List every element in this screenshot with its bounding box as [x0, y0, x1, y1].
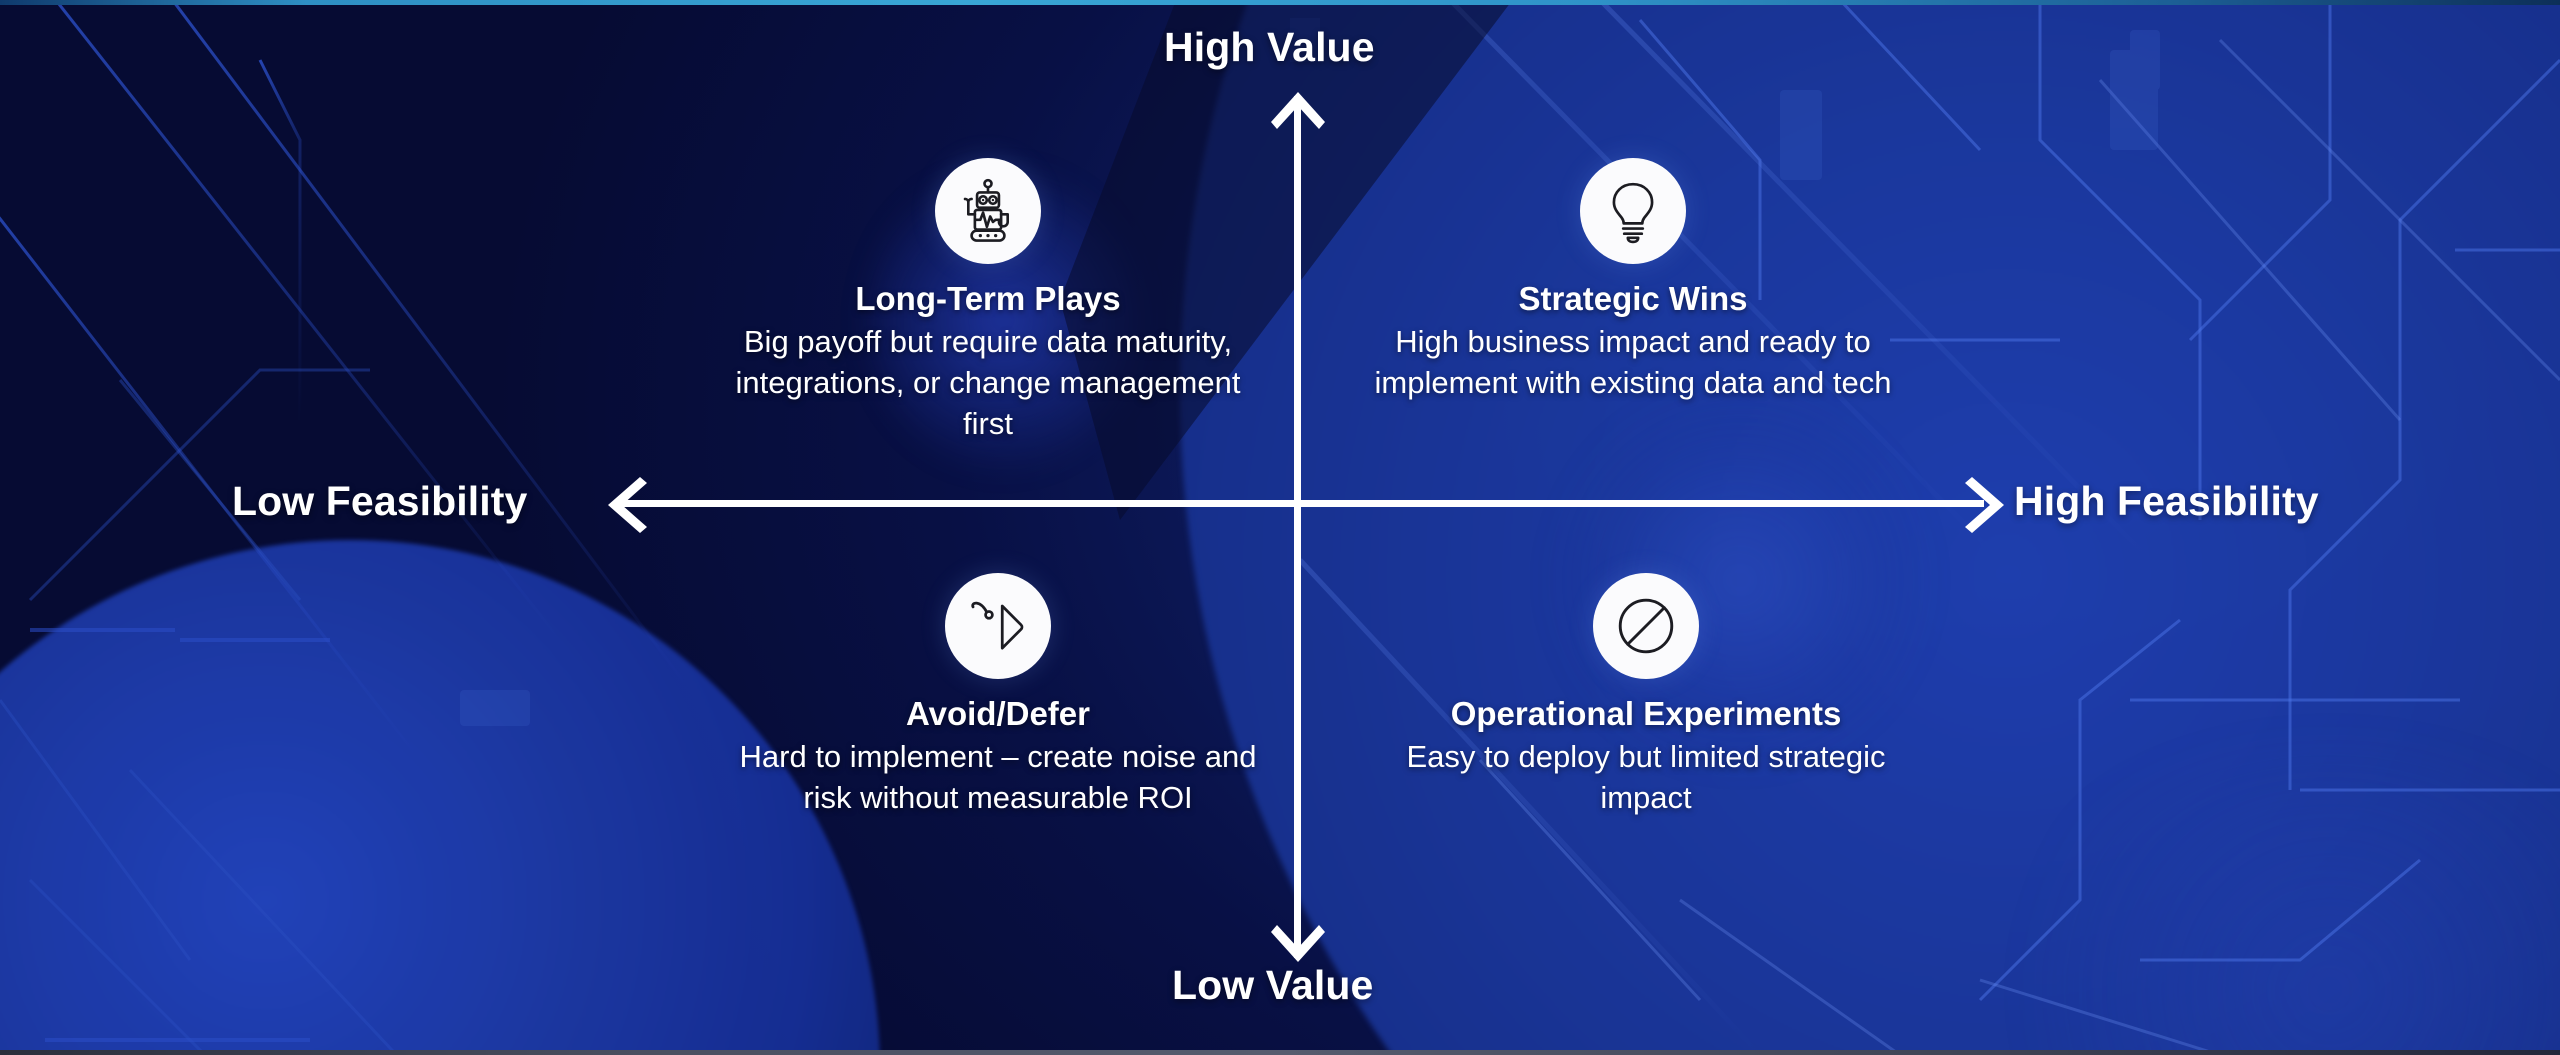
- quadrant-title: Operational Experiments: [1451, 695, 1842, 734]
- quadrant-title: Strategic Wins: [1519, 280, 1748, 319]
- axis-label-low-value: Low Value: [1172, 962, 1373, 1009]
- quadrant-title: Avoid/Defer: [906, 695, 1090, 734]
- background-circuit-lines: [0, 0, 2560, 1055]
- quadrant-long-term-plays: Long-Term Plays Big payoff but require d…: [708, 158, 1268, 445]
- lightbulb-icon: [1580, 158, 1686, 264]
- quadrant-description: Easy to deploy but limited strategic imp…: [1386, 736, 1906, 818]
- axis-label-low-feasibility: Low Feasibility: [232, 478, 527, 525]
- bottom-accent-rule: [0, 1050, 2560, 1055]
- quadrant-title: Long-Term Plays: [855, 280, 1120, 319]
- robot-icon: [935, 158, 1041, 264]
- axis-label-high-value: High Value: [1164, 24, 1375, 71]
- price-tag-icon: [945, 573, 1051, 679]
- arrow-down-icon: [1269, 918, 1327, 962]
- value-feasibility-matrix-slide: High Value Low Value Low Feasibility Hig…: [0, 0, 2560, 1055]
- quadrant-avoid-defer: Avoid/Defer Hard to implement – create n…: [718, 573, 1278, 818]
- quadrant-operational-experiments: Operational Experiments Easy to deploy b…: [1366, 573, 1926, 818]
- axis-label-high-feasibility: High Feasibility: [2014, 478, 2319, 525]
- quadrant-description: High business impact and ready to implem…: [1373, 321, 1893, 403]
- arrow-left-icon: [608, 477, 654, 533]
- arrow-up-icon: [1269, 92, 1327, 136]
- horizontal-axis-line: [614, 500, 1984, 507]
- quadrant-description: Hard to implement – create noise and ris…: [728, 736, 1268, 818]
- quadrant-strategic-wins: Strategic Wins High business impact and …: [1353, 158, 1913, 403]
- prohibited-icon: [1593, 573, 1699, 679]
- vertical-axis-line: [1294, 96, 1301, 958]
- quadrant-description: Big payoff but require data maturity, in…: [718, 321, 1258, 445]
- top-accent-rule: [0, 0, 2560, 5]
- arrow-right-icon: [1958, 477, 2004, 533]
